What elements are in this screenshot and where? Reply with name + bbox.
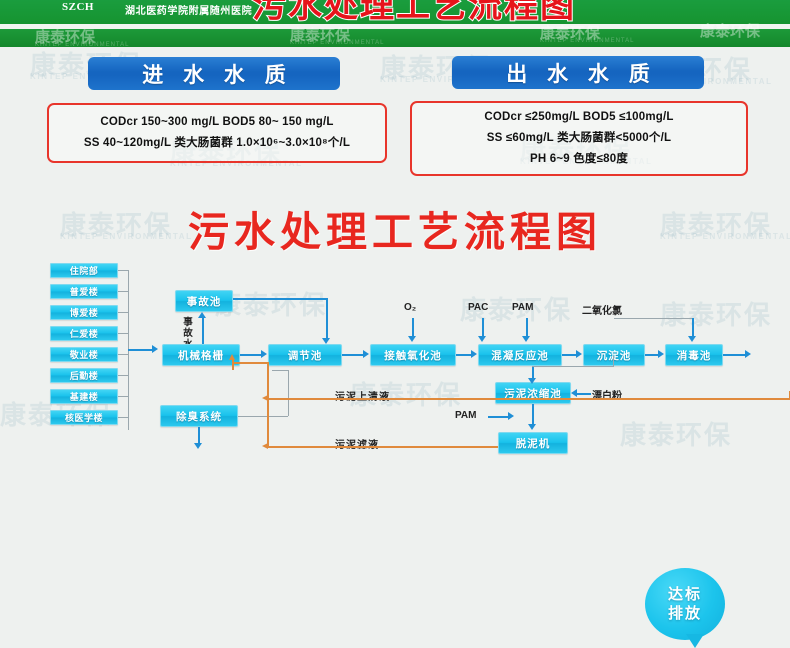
hospital-abbr: SZCH	[62, 1, 94, 13]
process-flow-diagram: 住院部 普爱楼 博爱楼 仁爱楼 敬业楼 后勤楼 基建楼 核医学楼 事故池 事故水…	[0, 250, 790, 450]
influent-spec-box: CODcr 150~300 mg/L BOD5 80~ 150 mg/L SS …	[47, 103, 387, 163]
line-deodor-header	[272, 370, 288, 371]
watermark-en: KINTEP ENVIRONMENTAL	[540, 38, 634, 44]
influent-header: 进 水 水 质	[88, 57, 340, 90]
discharge-label-2: 排放	[668, 604, 702, 624]
arrow-sedimentation-to-disinfection	[658, 350, 664, 358]
line-regulating-to-oxidation	[342, 354, 363, 356]
source-tap-0	[118, 270, 128, 271]
node-contact-oxidation[interactable]: 接触氧化池	[370, 344, 456, 366]
node-accident-tank[interactable]: 事故池	[175, 290, 233, 312]
effluent-header: 出 水 水 质	[452, 56, 704, 89]
line-screen-to-regulating	[240, 354, 261, 356]
arrow-screen-to-accident	[198, 312, 206, 318]
line-sed-down-run	[532, 366, 614, 367]
source-tap-7	[118, 417, 128, 418]
line-o2-dose	[412, 318, 414, 338]
label-filtrate: 污泥滤液	[335, 436, 379, 451]
arrow-return-to-screen	[229, 354, 235, 360]
node-coagulation[interactable]: 混凝反应池	[478, 344, 562, 366]
source-node-2[interactable]: 博爱楼	[50, 305, 118, 320]
arrow-pam-dose	[522, 336, 530, 342]
chem-label-pam-bottom: PAM	[455, 410, 476, 421]
source-node-6[interactable]: 基建楼	[50, 389, 118, 404]
arrow-regulating-to-oxidation	[363, 350, 369, 358]
effluent-spec-box: CODcr ≤250mg/L BOD5 ≤100mg/L SS ≤60mg/L …	[410, 101, 748, 176]
line-thickener-to-dewatering	[532, 404, 534, 426]
influent-line-2: SS 40~120mg/L 类大肠菌群 1.0×10⁶~3.0×10⁸个/L	[84, 133, 350, 154]
arrow-bleach-dose	[571, 389, 577, 397]
source-node-7[interactable]: 核医学楼	[50, 410, 118, 425]
line-clo2-dose	[692, 318, 694, 338]
line-disinfection-to-discharge	[723, 354, 745, 356]
line-accident-to-regulating	[233, 298, 328, 300]
chem-label-bleach: 漂白粉	[592, 387, 622, 402]
source-tap-4	[118, 354, 128, 355]
chem-label-clo2: 二氧化氯	[582, 302, 622, 317]
arrow-coagulation-to-sedimentation	[576, 350, 582, 358]
source-node-5[interactable]: 后勤楼	[50, 368, 118, 383]
hospital-name: 湖北医药学院附属随州医院	[125, 2, 252, 17]
watermark-en: KINTEP ENVIRONMENTAL	[35, 42, 129, 47]
source-node-0[interactable]: 住院部	[50, 263, 118, 278]
arrow-source-to-screen	[152, 345, 158, 353]
node-deodorization[interactable]: 除臭系统	[160, 405, 238, 427]
effluent-line-3: PH 6~9 色度≤80度	[530, 149, 628, 170]
watermark-en: KINTEP ENVIRONMENTAL	[290, 40, 384, 46]
source-node-1[interactable]: 普爱楼	[50, 284, 118, 299]
source-tap-1	[118, 291, 128, 292]
arrow-deodor-out	[194, 443, 202, 449]
effluent-line-1: CODcr ≤250mg/L BOD5 ≤100mg/L	[484, 107, 673, 128]
line-filtrate-return	[268, 446, 498, 448]
arrow-thickener-to-dewatering	[528, 424, 536, 430]
chem-label-o2: O₂	[404, 302, 416, 313]
line-coagulation-to-sedimentation	[562, 354, 576, 356]
node-sludge-dewatering[interactable]: 脱泥机	[498, 432, 568, 454]
line-source-to-screen	[128, 349, 152, 351]
line-bleach-dose	[577, 393, 591, 395]
watermark-cn: 康泰环保	[700, 20, 760, 41]
source-tap-2	[118, 312, 128, 313]
top-banner: SZCH 湖北医药学院附属随州医院 污水处理工艺流程图 康泰环保 KINTEP …	[0, 0, 790, 47]
arrow-clo2-dose	[688, 336, 696, 342]
line-deodor-riser	[288, 370, 289, 416]
arrow-pam-bottom-dose	[508, 412, 514, 420]
node-sedimentation[interactable]: 沉淀池	[583, 344, 645, 366]
line-deodor-link	[238, 416, 288, 417]
source-node-4[interactable]: 敬业楼	[50, 347, 118, 362]
arrow-disinfection-to-discharge	[745, 350, 751, 358]
line-clo2-run	[614, 318, 692, 319]
line-pam-bottom-dose	[488, 416, 508, 418]
line-accident-down	[326, 298, 328, 340]
source-tap-5	[118, 375, 128, 376]
node-sludge-thickener[interactable]: 污泥浓缩池	[495, 382, 571, 404]
source-tap-3	[118, 333, 128, 334]
discharge-label-1: 达标	[668, 585, 702, 605]
arrow-screen-to-regulating	[261, 350, 267, 358]
arrow-o2-dose	[408, 336, 416, 342]
line-supernatant-return	[268, 398, 790, 400]
chem-label-pam-top: PAM	[512, 302, 533, 313]
bubble-tail	[686, 634, 704, 648]
chem-label-pac: PAC	[468, 302, 488, 313]
arrow-oxidation-to-coagulation	[471, 350, 477, 358]
line-return-screen-riser	[232, 360, 234, 370]
source-node-3[interactable]: 仁爱楼	[50, 326, 118, 341]
influent-line-1: CODcr 150~300 mg/L BOD5 80~ 150 mg/L	[100, 112, 333, 133]
source-tap-6	[118, 396, 128, 397]
arrow-sed-to-thickener	[528, 378, 536, 384]
node-compliant-discharge[interactable]: 达标 排放	[645, 568, 725, 640]
node-regulating-tank[interactable]: 调节池	[268, 344, 342, 366]
effluent-line-2: SS ≤60mg/L 类大肠菌群<5000个/L	[487, 128, 671, 149]
line-return-to-screen	[232, 362, 268, 364]
label-supernatant: 污泥上清液	[335, 388, 390, 403]
node-disinfection[interactable]: 消毒池	[665, 344, 723, 366]
line-pac-dose	[482, 318, 484, 338]
line-sedimentation-to-disinfection	[645, 354, 658, 356]
page-title: 污水处理工艺流程图	[0, 198, 790, 258]
line-pam-dose	[526, 318, 528, 338]
banner-watermark-band: 康泰环保 KINTEP ENVIRONMENTAL 康泰环保 KINTEP EN…	[0, 22, 790, 47]
arrow-pac-dose	[478, 336, 486, 342]
line-return-riser	[267, 362, 269, 448]
line-sed-drop	[613, 356, 614, 366]
line-oxidation-to-coagulation	[456, 354, 471, 356]
